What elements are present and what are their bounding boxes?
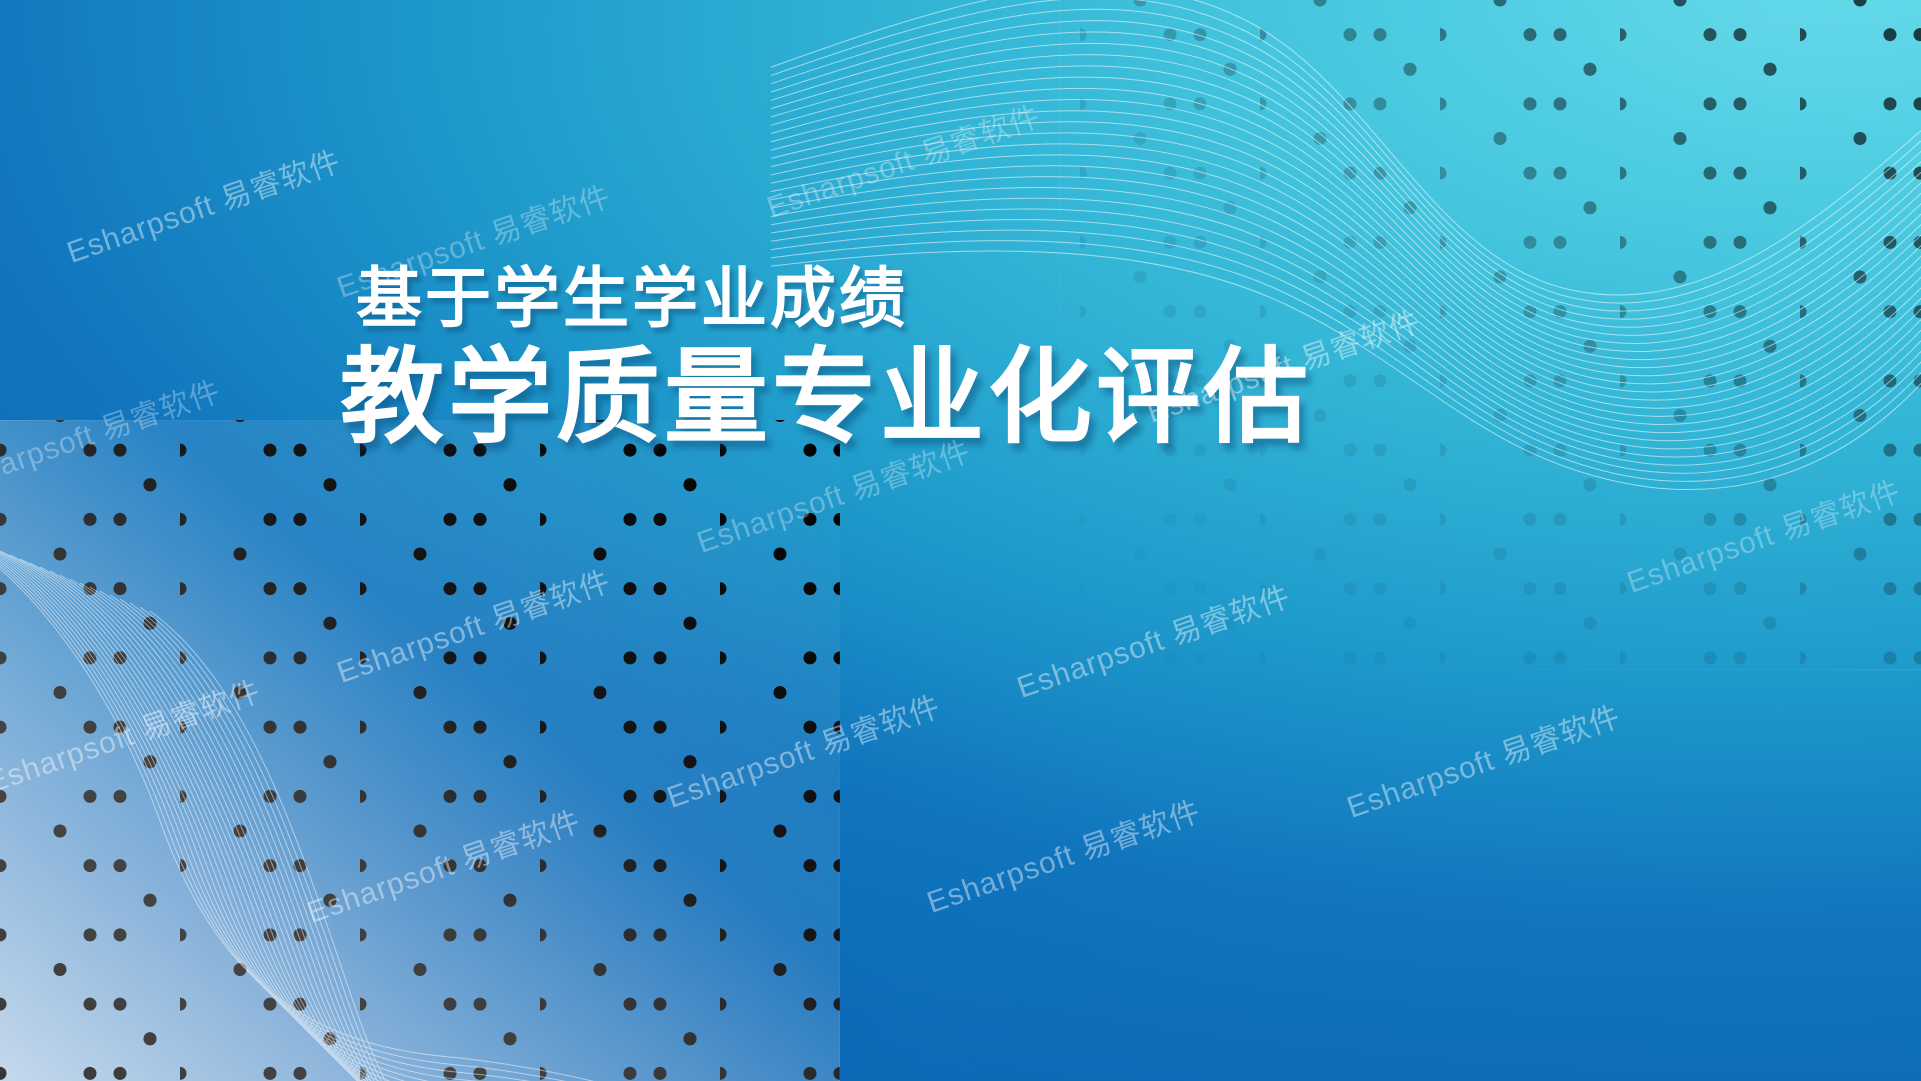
- watermark-text: Esharpsoft 易睿软件: [920, 787, 1205, 922]
- title-group: 基于学生学业成绩 教学质量专业化评估: [340, 262, 1312, 456]
- watermark-text: Esharpsoft 易睿软件: [0, 367, 225, 502]
- watermark-text: Esharpsoft 易睿软件: [1010, 572, 1295, 707]
- watermark-text: Esharpsoft 易睿软件: [300, 797, 585, 932]
- watermark-text: Esharpsoft 易睿软件: [330, 557, 615, 692]
- top-right-gradient-wash: [0, 0, 1921, 1081]
- watermark-text: Esharpsoft 易睿软件: [760, 92, 1045, 227]
- wave-ribbon-bottom-left: [0, 481, 1040, 1081]
- slide-subtitle: 基于学生学业成绩: [356, 262, 1312, 336]
- watermark-text: Esharpsoft 易睿软件: [1340, 692, 1625, 827]
- watermark-text: Esharpsoft 易睿软件: [0, 667, 265, 802]
- watermark-text: Esharpsoft 易睿软件: [1620, 467, 1905, 602]
- bottom-left-gradient-wash: [0, 0, 1921, 1081]
- slide-main-title: 教学质量专业化评估: [340, 340, 1312, 456]
- watermark-text: Esharpsoft 易睿软件: [660, 682, 945, 817]
- watermark-text: Esharpsoft 易睿软件: [60, 137, 345, 272]
- title-slide: 基于学生学业成绩 教学质量专业化评估 Esharpsoft 易睿软件Esharp…: [0, 0, 1921, 1081]
- watermark-layer: Esharpsoft 易睿软件Esharpsoft 易睿软件Esharpsoft…: [0, 0, 1921, 1081]
- hexagon-network-decoration: [0, 0, 1921, 1081]
